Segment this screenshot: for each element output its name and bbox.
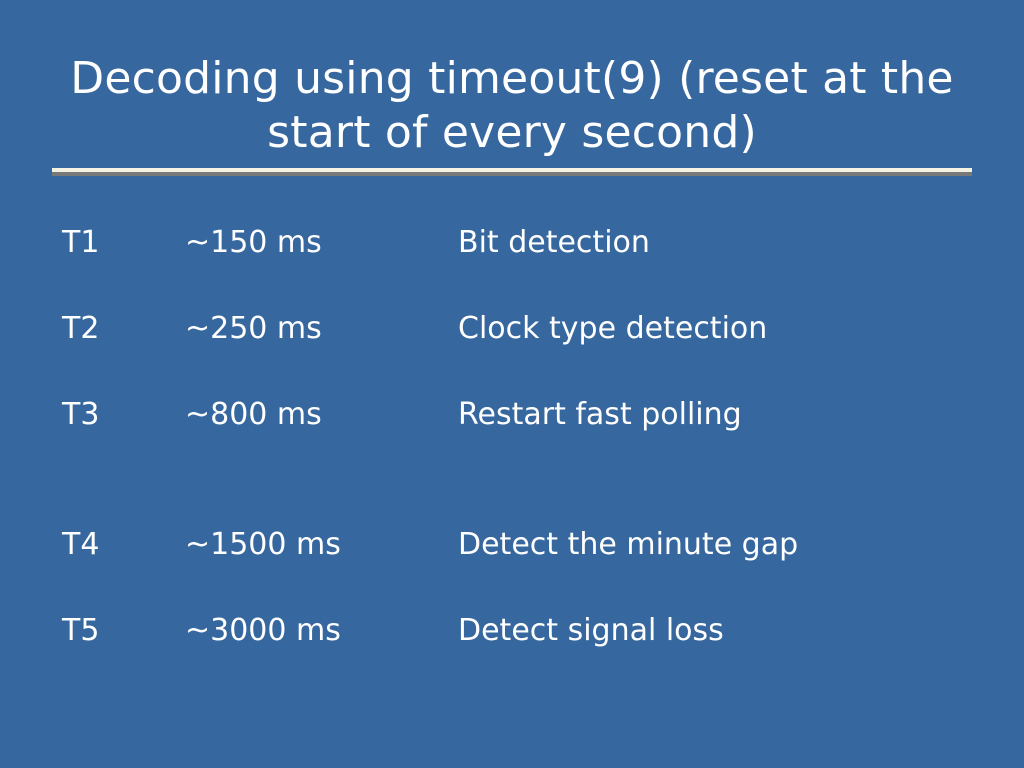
timer-description: Clock type detection xyxy=(458,312,962,398)
timer-timing: ~250 ms xyxy=(185,312,458,398)
page-title: Decoding using timeout(9) (reset at the … xyxy=(52,52,972,160)
title-divider-shadow xyxy=(52,172,972,176)
table-row: T5 ~3000 ms Detect signal loss xyxy=(62,614,962,700)
timer-table: T1 ~150 ms Bit detection T2 ~250 ms Cloc… xyxy=(62,226,962,700)
presentation-slide: Decoding using timeout(9) (reset at the … xyxy=(0,0,1024,768)
timer-label: T1 xyxy=(62,226,185,312)
table-row: T3 ~800 ms Restart fast polling xyxy=(62,398,962,484)
timer-label: T2 xyxy=(62,312,185,398)
timer-label: T4 xyxy=(62,528,185,614)
spacer-cell xyxy=(458,484,962,528)
timer-description: Detect the minute gap xyxy=(458,528,962,614)
timer-timing: ~800 ms xyxy=(185,398,458,484)
title-divider xyxy=(52,168,972,176)
timer-description: Bit detection xyxy=(458,226,962,312)
spacer-cell xyxy=(62,484,185,528)
slide-title-block: Decoding using timeout(9) (reset at the … xyxy=(52,52,972,160)
timer-label: T5 xyxy=(62,614,185,700)
timer-description: Restart fast polling xyxy=(458,398,962,484)
timer-timing: ~150 ms xyxy=(185,226,458,312)
timer-timing: ~1500 ms xyxy=(185,528,458,614)
table-row: T4 ~1500 ms Detect the minute gap xyxy=(62,528,962,614)
timer-timing: ~3000 ms xyxy=(185,614,458,700)
table-row: T2 ~250 ms Clock type detection xyxy=(62,312,962,398)
timer-description: Detect signal loss xyxy=(458,614,962,700)
timer-table-body: T1 ~150 ms Bit detection T2 ~250 ms Cloc… xyxy=(62,226,962,700)
table-row-spacer xyxy=(62,484,962,528)
timer-label: T3 xyxy=(62,398,185,484)
spacer-cell xyxy=(185,484,458,528)
table-row: T1 ~150 ms Bit detection xyxy=(62,226,962,312)
